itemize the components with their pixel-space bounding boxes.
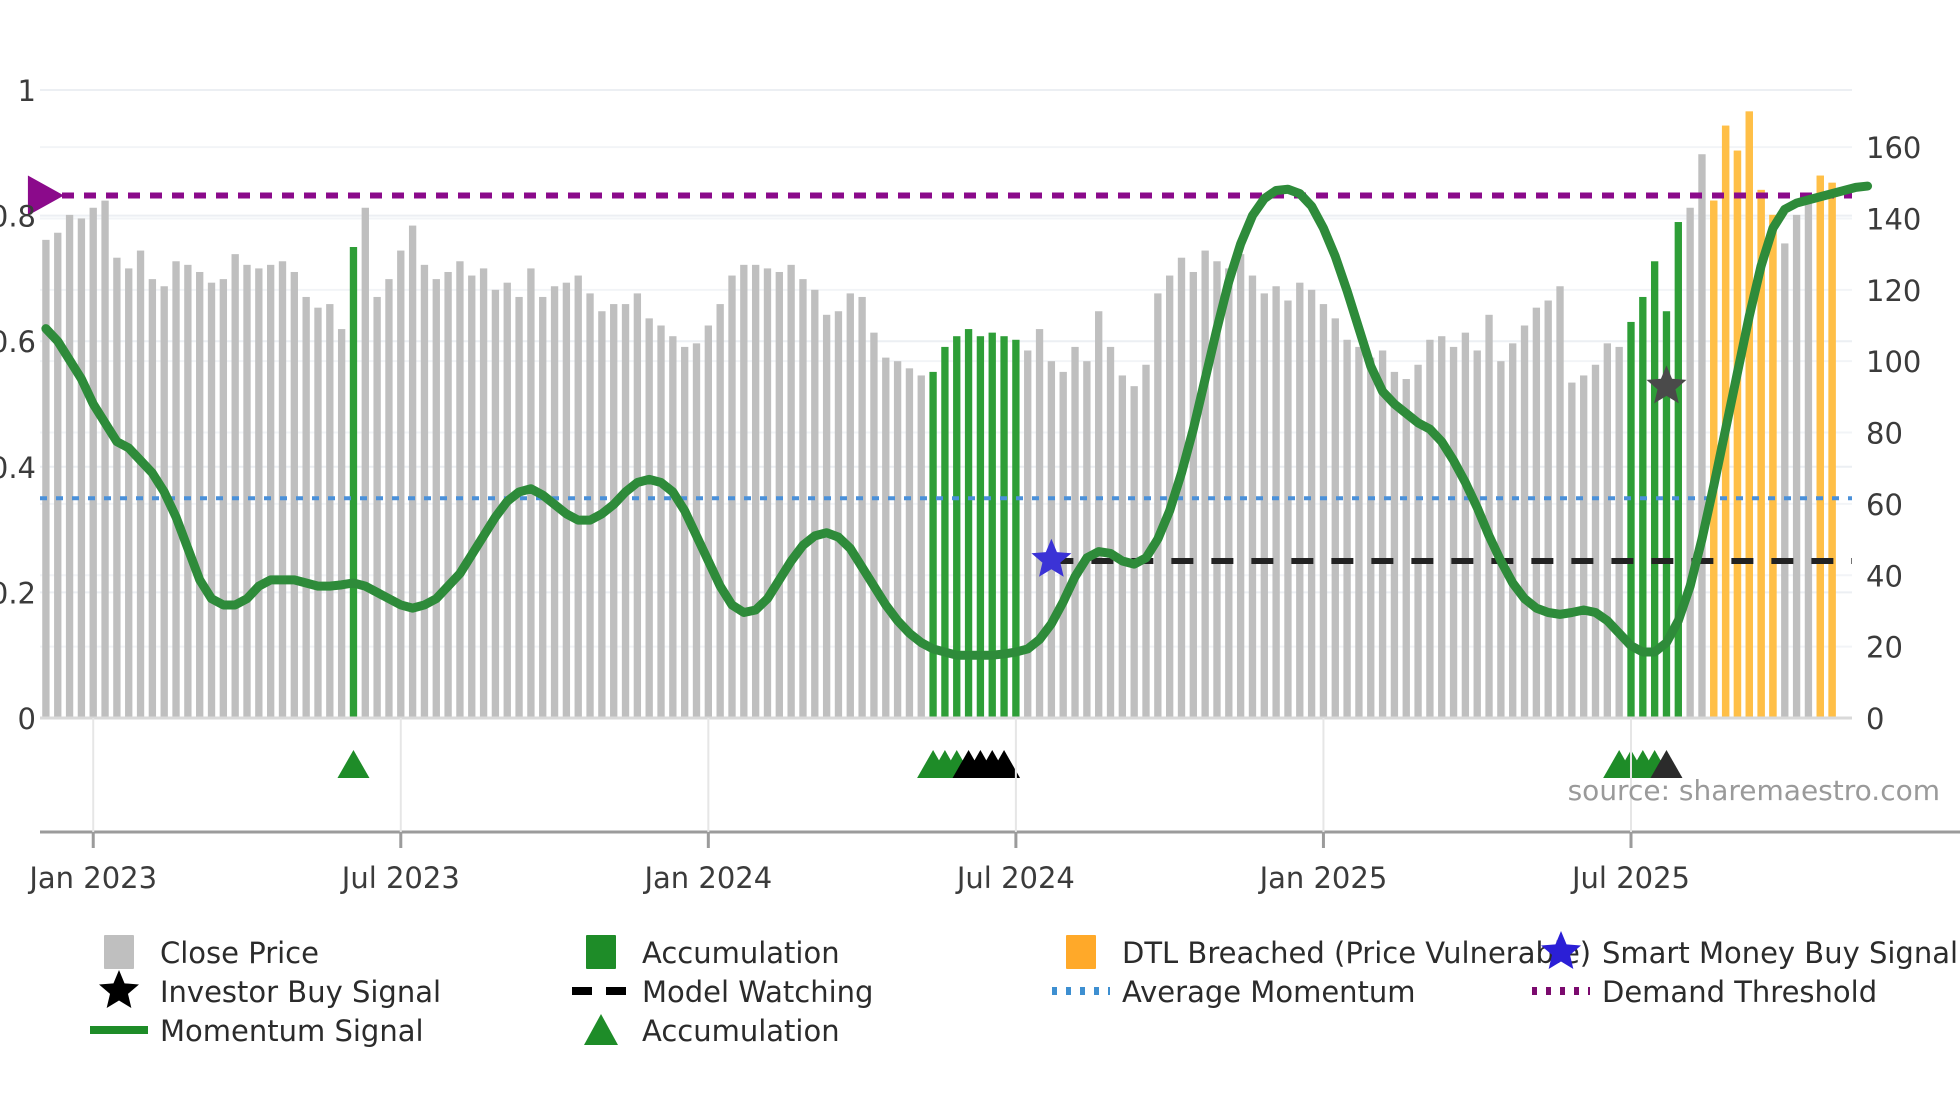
bar-close-price xyxy=(1367,358,1374,718)
bar-close-price xyxy=(515,297,522,718)
bar-close-price xyxy=(1272,286,1279,718)
bar-close-price xyxy=(1320,304,1327,718)
right-axis-tick-label: 120 xyxy=(1866,274,1921,308)
bar-close-price xyxy=(740,265,747,718)
bar-close-price xyxy=(113,258,120,718)
bar-close-price xyxy=(918,375,925,718)
bar-close-price xyxy=(326,304,333,718)
bar-close-price xyxy=(208,283,215,718)
bar-close-price xyxy=(243,265,250,718)
bar-close-price xyxy=(184,265,191,718)
bar-close-price xyxy=(870,333,877,718)
close-price-bars xyxy=(42,111,1836,718)
bar-close-price xyxy=(1225,268,1232,718)
bar-close-price xyxy=(1698,154,1705,718)
legend-swatch-accumulation xyxy=(586,935,616,969)
bar-close-price xyxy=(1261,293,1268,718)
legend-item-smart-money-buy-signal[interactable]: Smart Money Buy Signal xyxy=(1541,931,1958,970)
bar-close-price xyxy=(78,218,85,718)
bar-close-price xyxy=(1343,340,1350,718)
legend-item-accumulation[interactable]: Accumulation xyxy=(586,935,840,970)
bar-dtl-breached xyxy=(1734,151,1741,718)
bar-dtl-breached xyxy=(1769,215,1776,718)
bar-close-price xyxy=(385,279,392,718)
bar-close-price xyxy=(314,308,321,718)
bar-close-price xyxy=(716,304,723,718)
legend-star-icon-investor-buy-signal xyxy=(99,970,139,1008)
legend-label-average-momentum: Average Momentum xyxy=(1122,975,1416,1009)
bar-close-price xyxy=(1142,365,1149,718)
bar-close-price xyxy=(539,297,546,718)
bar-close-price xyxy=(433,279,440,718)
bar-close-price xyxy=(1284,301,1291,718)
x-axis-tick-label: Jan 2025 xyxy=(1258,861,1388,895)
bar-close-price xyxy=(1296,283,1303,718)
legend-label-close-price: Close Price xyxy=(160,936,319,970)
right-axis-tick-label: 20 xyxy=(1866,631,1903,665)
bar-close-price xyxy=(1462,333,1469,718)
bar-close-price xyxy=(705,326,712,719)
bar-accumulation xyxy=(1012,340,1019,718)
bar-close-price xyxy=(894,361,901,718)
bar-close-price xyxy=(1509,343,1516,718)
bar-accumulation xyxy=(1675,222,1682,718)
axis-accumulation-triangles xyxy=(337,750,1682,778)
chart-canvas: Jan 2023Jul 2023Jan 2024Jul 2024Jan 2025… xyxy=(0,0,1960,1102)
bar-close-price xyxy=(1308,290,1315,718)
bar-close-price xyxy=(1450,347,1457,718)
bar-close-price xyxy=(1131,386,1138,718)
right-axis-tick-label: 140 xyxy=(1866,202,1921,236)
bar-close-price xyxy=(1379,350,1386,718)
bar-close-price xyxy=(1024,350,1031,718)
bar-close-price xyxy=(681,347,688,718)
bar-close-price xyxy=(1485,315,1492,718)
legend-item-accumulation[interactable]: Accumulation xyxy=(584,1014,840,1048)
bar-close-price xyxy=(255,268,262,718)
chart-legend: Close PriceAccumulationDTL Breached (Pri… xyxy=(90,931,1958,1048)
bar-close-price xyxy=(1332,318,1339,718)
bar-close-price xyxy=(835,311,842,718)
right-axis-tick-label: 0 xyxy=(1866,702,1884,736)
bar-close-price xyxy=(421,265,428,718)
bar-close-price xyxy=(634,293,641,718)
bar-close-price xyxy=(1355,347,1362,718)
bar-close-price xyxy=(669,336,676,718)
right-axis-tick-label: 40 xyxy=(1866,559,1903,593)
bar-close-price xyxy=(456,261,463,718)
legend-swatch-close-price xyxy=(104,935,134,969)
bar-close-price xyxy=(137,251,144,718)
bar-close-price xyxy=(1686,208,1693,718)
bar-close-price xyxy=(1107,347,1114,718)
left-axis-tick-label: 0 xyxy=(18,702,36,736)
legend-item-demand-threshold[interactable]: Demand Threshold xyxy=(1532,975,1877,1009)
bar-accumulation xyxy=(929,372,936,718)
bar-close-price xyxy=(906,368,913,718)
bar-close-price xyxy=(1615,347,1622,718)
left-axis-tick-label: 0.2 xyxy=(0,576,36,610)
bar-close-price xyxy=(764,268,771,718)
legend-label-demand-threshold: Demand Threshold xyxy=(1602,975,1877,1009)
bar-accumulation xyxy=(953,336,960,718)
bar-close-price xyxy=(1403,379,1410,718)
bar-close-price xyxy=(267,265,274,718)
bar-close-price xyxy=(575,276,582,718)
bar-close-price xyxy=(1083,361,1090,718)
bar-close-price xyxy=(1426,340,1433,718)
bar-close-price xyxy=(882,358,889,718)
bar-accumulation xyxy=(1627,322,1634,718)
legend-item-investor-buy-signal[interactable]: Investor Buy Signal xyxy=(99,970,441,1009)
bar-close-price xyxy=(409,226,416,718)
source-note: source: sharemaestro.com xyxy=(1568,774,1940,807)
x-axis-tick-label: Jul 2023 xyxy=(340,861,460,895)
bar-close-price xyxy=(362,208,369,718)
bar-dtl-breached xyxy=(1746,111,1753,718)
legend-label-dtl-breached-price-vulnerable: DTL Breached (Price Vulnerable) xyxy=(1122,936,1591,970)
bar-close-price xyxy=(1249,276,1256,718)
legend-label-accumulation: Accumulation xyxy=(642,1014,840,1048)
bar-close-price xyxy=(302,297,309,718)
bar-close-price xyxy=(373,297,380,718)
bar-close-price xyxy=(823,315,830,718)
bar-close-price xyxy=(1237,254,1244,718)
legend-label-model-watching: Model Watching xyxy=(642,975,873,1009)
bar-close-price xyxy=(1190,272,1197,718)
legend-swatch-dtl-breached-price-vulnerable xyxy=(1066,935,1096,969)
bar-close-price xyxy=(752,265,759,718)
bar-close-price xyxy=(1521,326,1528,719)
bar-close-price xyxy=(279,261,286,718)
left-axis-tick-label: 1 xyxy=(18,74,36,108)
bar-dtl-breached xyxy=(1828,183,1835,718)
bar-close-price xyxy=(1497,361,1504,718)
bar-accumulation xyxy=(941,347,948,718)
bar-close-price xyxy=(1556,286,1563,718)
bar-close-price xyxy=(1071,347,1078,718)
bar-close-price xyxy=(1119,375,1126,718)
bar-close-price xyxy=(444,272,451,718)
accumulation-triangle xyxy=(337,750,369,778)
bar-close-price xyxy=(1592,365,1599,718)
bar-close-price xyxy=(811,290,818,718)
bar-close-price xyxy=(54,233,61,718)
left-axis-tick-label: 0.4 xyxy=(0,451,36,485)
bar-close-price xyxy=(42,240,49,718)
legend-item-model-watching[interactable]: Model Watching xyxy=(572,975,873,1009)
bar-close-price xyxy=(172,261,179,718)
bar-close-price xyxy=(563,283,570,718)
bar-dtl-breached xyxy=(1817,176,1824,718)
x-axis-tick-label: Jan 2023 xyxy=(27,861,157,895)
legend-item-close-price[interactable]: Close Price xyxy=(104,935,319,970)
bar-close-price xyxy=(492,290,499,718)
bar-close-price xyxy=(1533,308,1540,718)
right-axis-tick-label: 100 xyxy=(1866,345,1921,379)
right-axis-tick-label: 160 xyxy=(1866,131,1921,165)
x-axis-tick-label: Jul 2024 xyxy=(955,861,1075,895)
bar-close-price xyxy=(776,272,783,718)
legend-label-investor-buy-signal: Investor Buy Signal xyxy=(160,975,441,1009)
bar-close-price xyxy=(1474,350,1481,718)
bar-close-price xyxy=(1201,251,1208,718)
legend-item-momentum-signal[interactable]: Momentum Signal xyxy=(90,1014,424,1048)
bar-close-price xyxy=(1154,293,1161,718)
legend-triangle-icon-accumulation xyxy=(584,1014,618,1045)
right-axis-tick-label: 80 xyxy=(1866,417,1903,451)
bar-close-price xyxy=(1095,311,1102,718)
bar-close-price xyxy=(787,265,794,718)
bar-close-price xyxy=(1391,372,1398,718)
legend-label-smart-money-buy-signal: Smart Money Buy Signal xyxy=(1602,936,1958,970)
bar-close-price xyxy=(1580,375,1587,718)
bar-close-price xyxy=(586,293,593,718)
bar-close-price xyxy=(291,272,298,718)
bar-close-price xyxy=(847,293,854,718)
bar-close-price xyxy=(646,318,653,718)
bar-close-price xyxy=(858,297,865,718)
bar-close-price xyxy=(90,208,97,718)
chart-groups: Jan 2023Jul 2023Jan 2024Jul 2024Jan 2025… xyxy=(0,74,1960,1048)
right-axis-tick-label: 60 xyxy=(1866,488,1903,522)
bar-close-price xyxy=(799,279,806,718)
bar-close-price xyxy=(1438,336,1445,718)
chart-container: Jan 2023Jul 2023Jan 2024Jul 2024Jan 2025… xyxy=(0,0,1960,1102)
legend-label-accumulation: Accumulation xyxy=(642,936,840,970)
bar-close-price xyxy=(657,326,664,719)
bar-accumulation xyxy=(977,336,984,718)
bar-close-price xyxy=(1060,372,1067,718)
left-axis-tick-label: 0.8 xyxy=(0,200,36,234)
legend-item-average-momentum[interactable]: Average Momentum xyxy=(1052,975,1416,1009)
bar-close-price xyxy=(125,268,132,718)
bar-close-price xyxy=(397,251,404,718)
legend-label-momentum-signal: Momentum Signal xyxy=(160,1014,424,1048)
bar-close-price xyxy=(622,304,629,718)
left-axis-tick-label: 0.6 xyxy=(0,325,36,359)
bar-close-price xyxy=(101,201,108,718)
bar-close-price xyxy=(338,329,345,718)
bar-close-price xyxy=(1036,329,1043,718)
bar-close-price xyxy=(480,268,487,718)
legend-item-dtl-breached-price-vulnerable[interactable]: DTL Breached (Price Vulnerable) xyxy=(1066,935,1591,970)
bar-close-price xyxy=(1568,383,1575,718)
bar-accumulation xyxy=(1000,336,1007,718)
bar-accumulation xyxy=(989,333,996,718)
bar-accumulation xyxy=(350,247,357,718)
bar-close-price xyxy=(1604,343,1611,718)
bar-close-price xyxy=(196,272,203,718)
x-axis-tick-label: Jul 2025 xyxy=(1570,861,1690,895)
bar-close-price xyxy=(232,254,239,718)
bar-close-price xyxy=(1545,301,1552,718)
bar-close-price xyxy=(66,215,73,718)
x-axis-tick-label: Jan 2024 xyxy=(642,861,772,895)
